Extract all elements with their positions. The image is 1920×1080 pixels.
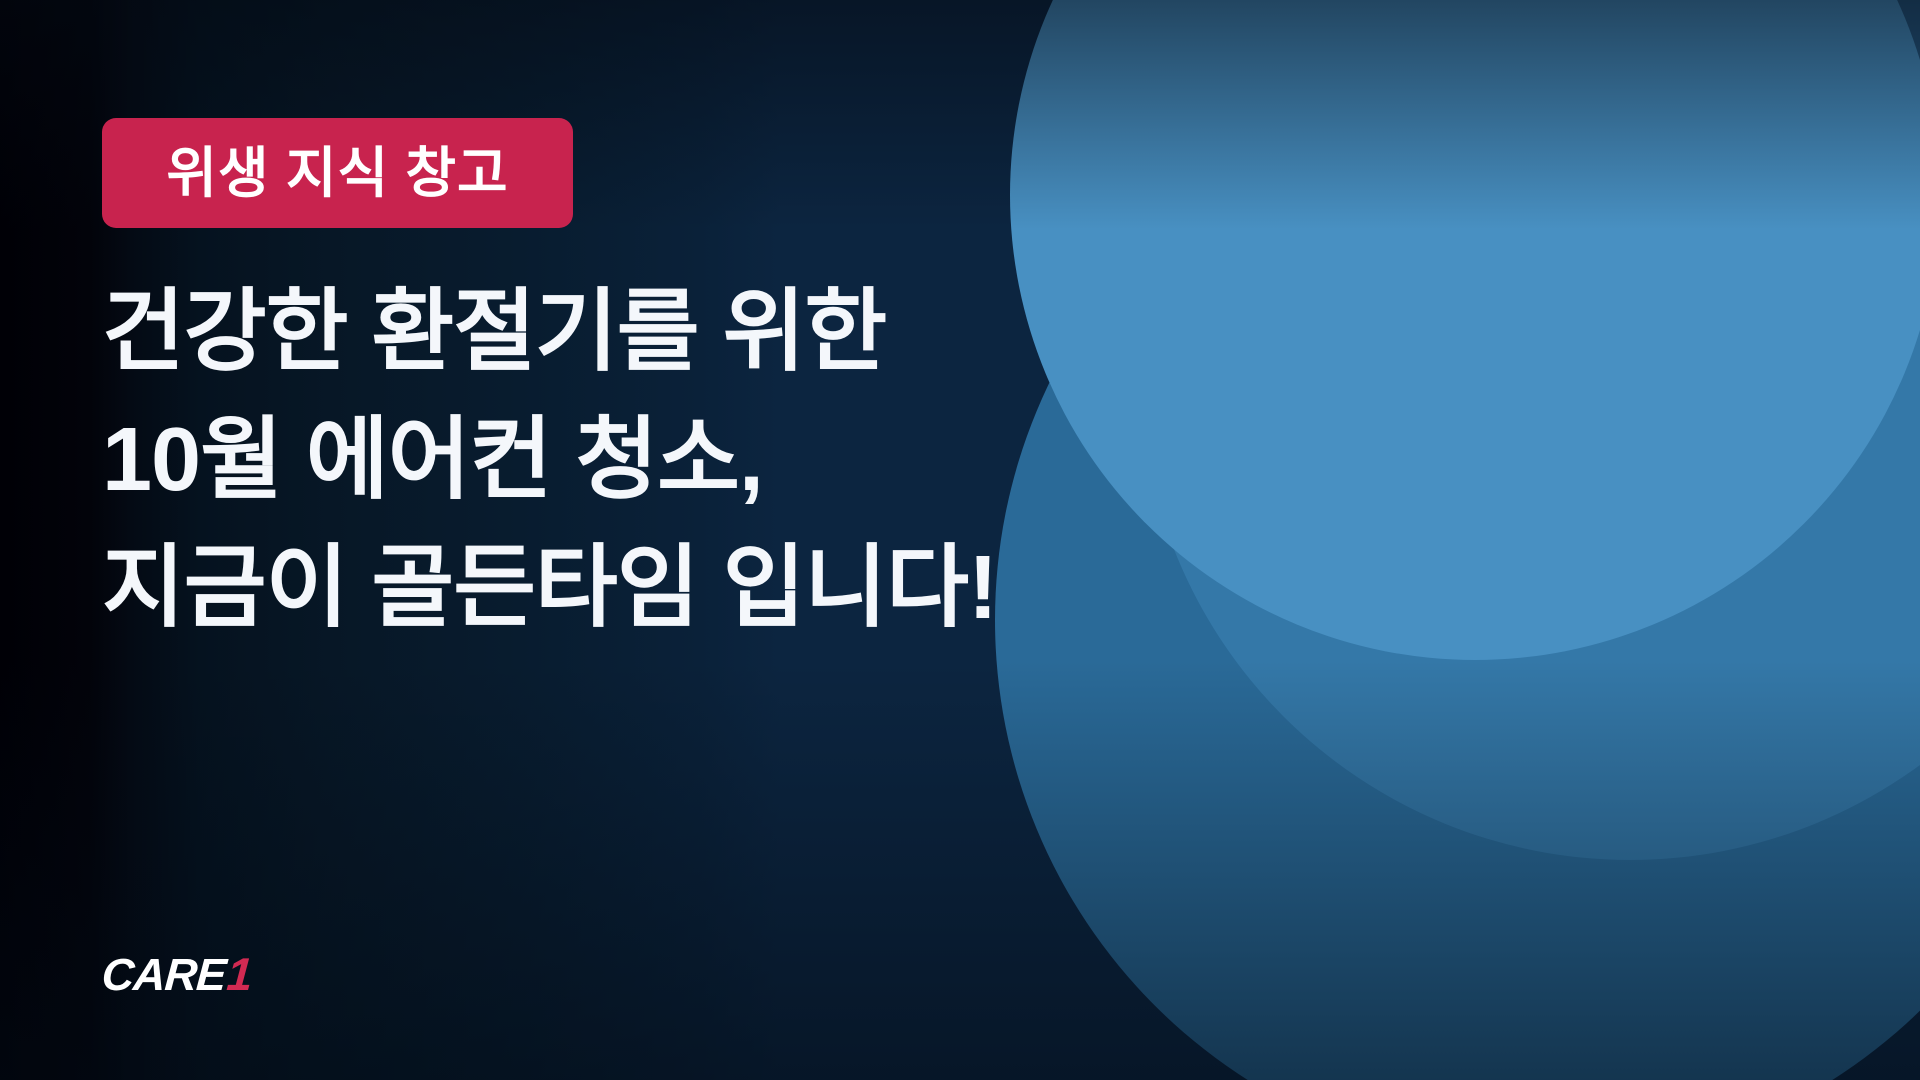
slide-canvas: 위생 지식 창고 건강한 환절기를 위한 10월 에어컨 청소, 지금이 골든타… [0,0,1920,1080]
headline-line-3: 지금이 골든타임 입니다! [102,524,1062,652]
headline-block: 건강한 환절기를 위한 10월 에어컨 청소, 지금이 골든타임 입니다! [102,268,1062,652]
headline-line-1: 건강한 환절기를 위한 [102,268,1062,396]
brand-logo-word: CARE [100,952,227,997]
brand-logo: CARE 1 [102,950,252,998]
category-badge: 위생 지식 창고 [102,118,573,228]
headline-line-2: 10월 에어컨 청소, [102,396,1062,524]
content-column: 위생 지식 창고 건강한 환절기를 위한 10월 에어컨 청소, 지금이 골든타… [102,0,1102,1080]
brand-logo-numeral: 1 [225,951,254,997]
category-badge-label: 위생 지식 창고 [166,146,508,201]
